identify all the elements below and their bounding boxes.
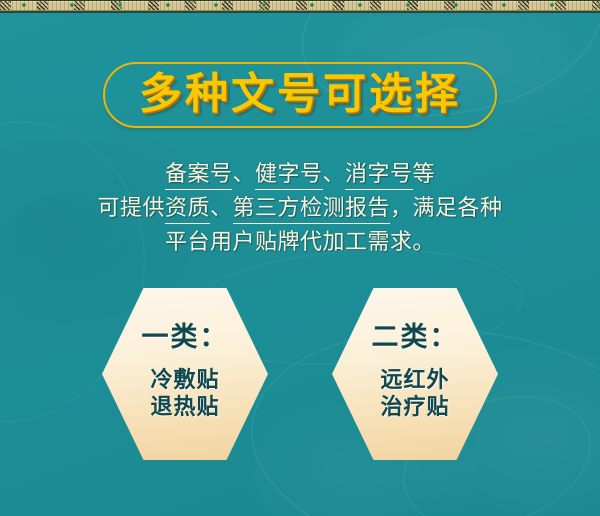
- top-ornamental-border: [0, 0, 600, 13]
- category-hexagon-one: 一类： 冷敷贴 退热贴: [102, 288, 268, 460]
- separator-3: 、: [210, 196, 233, 221]
- description-paragraph: 备案号、健字号、消字号等 可提供资质、第三方检测报告，满足各种 平台用户贴牌代加…: [0, 158, 600, 260]
- description-line-3: 平台用户贴牌代加工需求。: [0, 226, 600, 260]
- offer-third-party-report: 第三方检测报告: [233, 196, 391, 224]
- line-2-lead: 可提供: [97, 196, 165, 221]
- category-two-item-2: 治疗贴: [380, 394, 449, 421]
- category-one-item-1: 冷敷贴: [150, 367, 219, 394]
- line-1-tail: 等: [413, 162, 436, 187]
- page-title: 多种文号可选择: [105, 74, 495, 117]
- separator-2: 、: [323, 162, 346, 187]
- separator-1: 、: [232, 162, 255, 187]
- line-2-tail: ，满足各种: [390, 196, 503, 221]
- doc-type-jianzi: 健字号: [255, 162, 323, 190]
- category-hexagon-two: 二类： 远红外 治疗贴: [332, 288, 498, 460]
- category-two-items: 远红外 治疗贴: [380, 367, 449, 421]
- category-one-items: 冷敷贴 退热贴: [150, 367, 219, 421]
- category-hexagon-row: 一类： 冷敷贴 退热贴 二类： 远红外 治疗贴: [0, 288, 600, 460]
- category-two-title: 二类：: [372, 324, 459, 351]
- category-two-item-1: 远红外: [380, 367, 449, 394]
- description-line-2: 可提供资质、第三方检测报告，满足各种: [0, 192, 600, 226]
- doc-type-xiaozi: 消字号: [345, 162, 413, 190]
- offer-qualification: 资质: [165, 196, 210, 224]
- poster-canvas: 多种文号可选择 备案号、健字号、消字号等 可提供资质、第三方检测报告，满足各种 …: [0, 0, 600, 516]
- description-line-1: 备案号、健字号、消字号等: [0, 158, 600, 192]
- border-gem-icon: [0, 2, 600, 9]
- category-one-item-2: 退热贴: [150, 394, 219, 421]
- doc-type-beian: 备案号: [165, 162, 233, 190]
- title-frame: 多种文号可选择: [103, 62, 497, 128]
- category-one-title: 一类：: [142, 324, 229, 351]
